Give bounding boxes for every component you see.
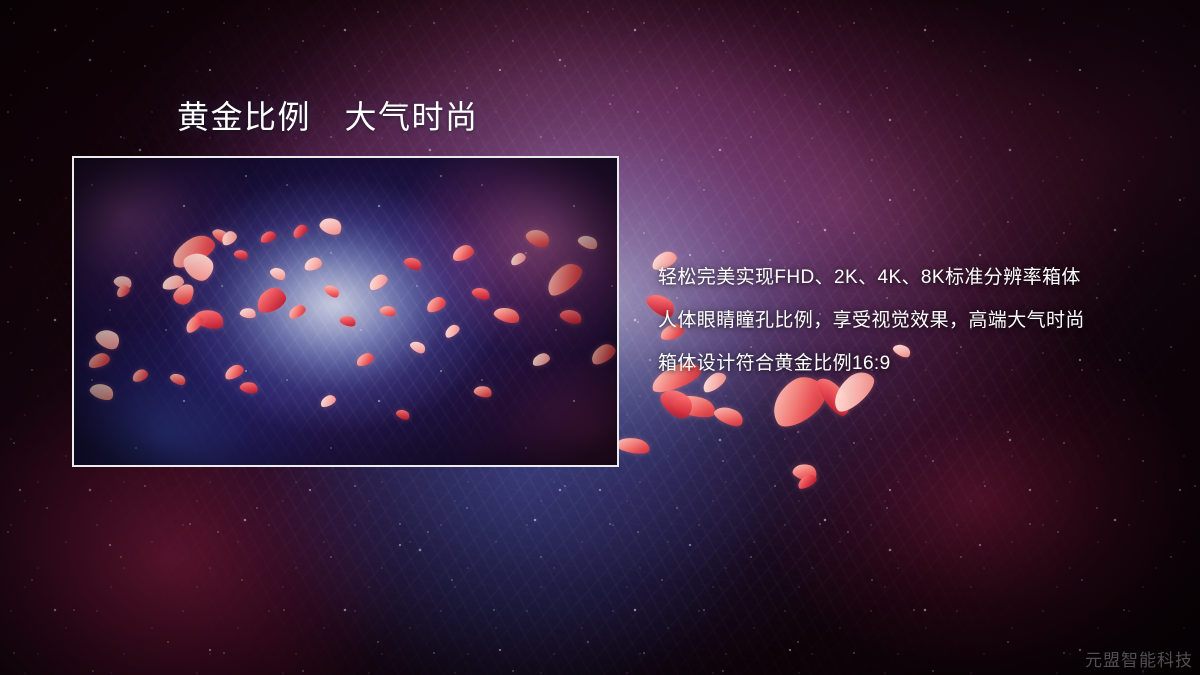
- body-line-3: 箱体设计符合黄金比例16:9: [658, 342, 1178, 385]
- body-line-1: 轻松完美实现FHD、2K、4K、8K标准分辨率箱体: [658, 256, 1178, 299]
- page-title: 黄金比例 大气时尚: [177, 99, 479, 136]
- photo-image: [74, 158, 617, 465]
- body-copy: 轻松完美实现FHD、2K、4K、8K标准分辨率箱体 人体眼睛瞳孔比例，享受视觉效…: [658, 256, 1178, 385]
- presentation-slide: 黄金比例 大气时尚 轻松完美实现FHD、2K、4K、8K标准分辨率箱体 人体眼睛…: [0, 0, 1200, 675]
- body-line-2: 人体眼睛瞳孔比例，享受视觉效果，高端大气时尚: [658, 299, 1178, 342]
- watermark: 元盟智能科技: [1085, 646, 1193, 671]
- photo-frame: [72, 156, 619, 467]
- photo-vignette: [74, 158, 617, 465]
